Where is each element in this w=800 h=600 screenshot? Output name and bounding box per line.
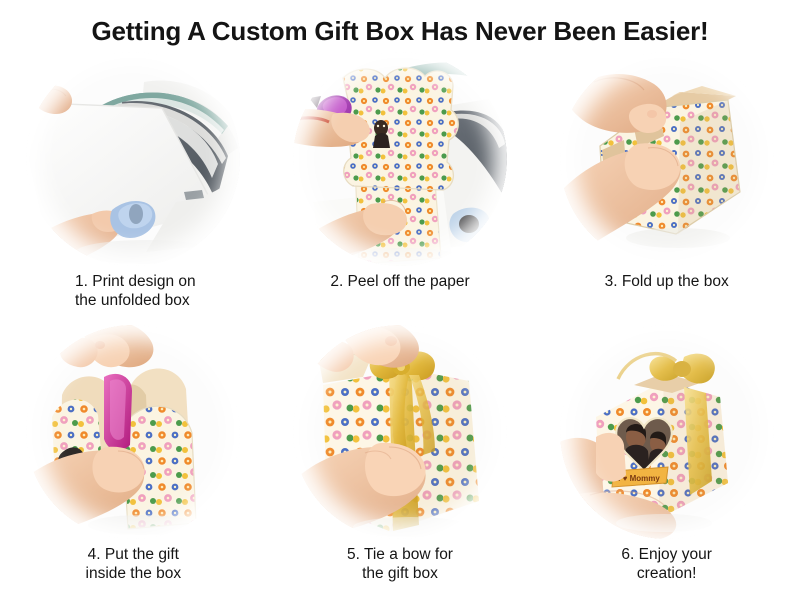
step-cell-6: I ♥ Mommy 6. Enjoy your creation! bbox=[533, 321, 800, 594]
step-5-caption: 5. Tie a bow for the gift box bbox=[347, 545, 453, 584]
step-3-photo bbox=[560, 52, 774, 266]
step-1-caption: 1. Print design on the unfolded box bbox=[75, 272, 196, 311]
step-cell-5: 5. Tie a bow for the gift box bbox=[267, 321, 534, 594]
placing-gift-inside-box-image bbox=[26, 325, 240, 539]
step-3-caption: 3. Fold up the box bbox=[605, 272, 729, 291]
step-1-photo bbox=[26, 52, 240, 266]
folding-up-box-image bbox=[560, 52, 774, 266]
step-6-caption: 6. Enjoy your creation! bbox=[621, 545, 711, 584]
step-2-photo bbox=[293, 52, 507, 266]
steps-grid: 1. Print design on the unfolded box bbox=[0, 48, 800, 594]
step-2-caption: 2. Peel off the paper bbox=[330, 272, 469, 291]
step-cell-1: 1. Print design on the unfolded box bbox=[0, 48, 267, 321]
step-4-caption: 4. Put the gift inside the box bbox=[86, 545, 182, 584]
step-cell-3: 3. Fold up the box bbox=[533, 48, 800, 321]
step-4-photo bbox=[26, 325, 240, 539]
printer-printing-unfolded-box-image bbox=[26, 52, 240, 266]
page-title: Getting A Custom Gift Box Has Never Been… bbox=[0, 0, 800, 48]
step-5-photo bbox=[293, 325, 507, 539]
finished-gift-box-image: I ♥ Mommy bbox=[560, 325, 774, 539]
tying-ribbon-bow-image bbox=[293, 325, 507, 539]
step-cell-2: 2. Peel off the paper bbox=[267, 48, 534, 321]
step-cell-4: 4. Put the gift inside the box bbox=[0, 321, 267, 594]
step-6-photo: I ♥ Mommy bbox=[560, 325, 774, 539]
peeling-printed-paper-image bbox=[293, 52, 507, 266]
